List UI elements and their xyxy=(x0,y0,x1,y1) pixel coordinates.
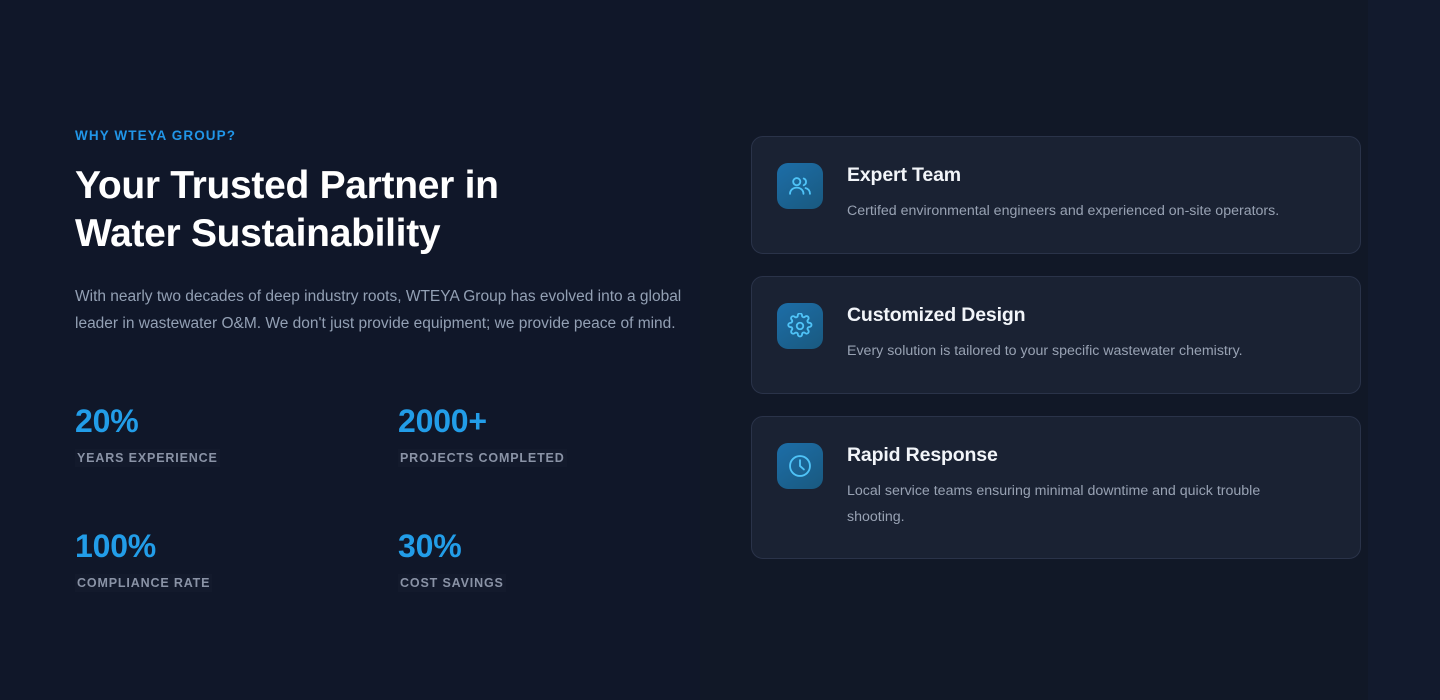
feature-card-title: Rapid Response xyxy=(847,442,1317,468)
background-band-right xyxy=(1368,0,1440,700)
stat-item: 100% COMPLIANCE RATE xyxy=(75,527,398,592)
gear-icon xyxy=(777,303,823,349)
users-icon xyxy=(777,163,823,209)
why-wteya-section: WHY WTEYA GROUP? Your Trusted Partner in… xyxy=(0,0,1440,700)
feature-card-rapid-response[interactable]: Rapid Response Local service teams ensur… xyxy=(751,416,1361,559)
stat-item: 2000+ PROJECTS COMPLETED xyxy=(398,402,695,467)
stat-label: COMPLIANCE RATE xyxy=(75,574,212,592)
intro-paragraph: With nearly two decades of deep industry… xyxy=(75,284,690,337)
stat-value: 30% xyxy=(398,527,695,565)
feature-card-customized-design[interactable]: Customized Design Every solution is tail… xyxy=(751,276,1361,394)
stat-value: 20% xyxy=(75,402,398,440)
feature-card-description: Certifed environmental engineers and exp… xyxy=(847,198,1279,224)
feature-card-body: Customized Design Every solution is tail… xyxy=(847,301,1243,364)
feature-card-title: Expert Team xyxy=(847,162,1279,188)
stat-value: 2000+ xyxy=(398,402,695,440)
intro-column: WHY WTEYA GROUP? Your Trusted Partner in… xyxy=(75,128,705,337)
page-title: Your Trusted Partner in Water Sustainabi… xyxy=(75,162,705,258)
feature-card-title: Customized Design xyxy=(847,302,1243,328)
section-eyebrow: WHY WTEYA GROUP? xyxy=(75,128,705,144)
feature-card-description: Every solution is tailored to your speci… xyxy=(847,338,1243,364)
stat-item: 30% COST SAVINGS xyxy=(398,527,695,592)
stat-label: COST SAVINGS xyxy=(398,574,506,592)
stat-label: YEARS EXPERIENCE xyxy=(75,449,220,467)
stat-value: 100% xyxy=(75,527,398,565)
stat-item: 20% YEARS EXPERIENCE xyxy=(75,402,398,467)
headline-line-1: Your Trusted Partner in xyxy=(75,162,705,210)
clock-icon xyxy=(777,443,823,489)
feature-card-body: Expert Team Certifed environmental engin… xyxy=(847,161,1279,224)
feature-card-description: Local service teams ensuring minimal dow… xyxy=(847,478,1317,530)
stat-label: PROJECTS COMPLETED xyxy=(398,449,567,467)
feature-card-expert-team[interactable]: Expert Team Certifed environmental engin… xyxy=(751,136,1361,254)
stats-grid: 20% YEARS EXPERIENCE 2000+ PROJECTS COMP… xyxy=(75,402,695,592)
feature-card-list: Expert Team Certifed environmental engin… xyxy=(751,136,1361,559)
headline-line-2: Water Sustainability xyxy=(75,210,705,258)
feature-card-body: Rapid Response Local service teams ensur… xyxy=(847,441,1317,530)
